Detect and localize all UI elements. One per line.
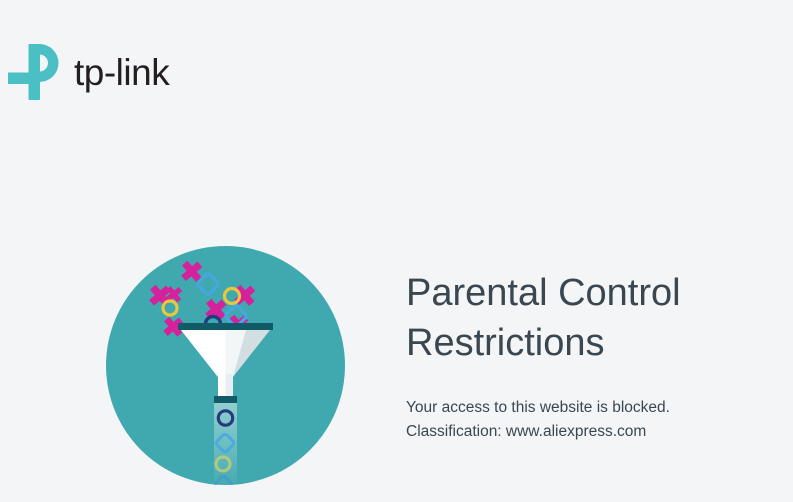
block-message-line-2: Classification: www.aliexpress.com (406, 420, 766, 444)
tp-link-logo-icon (8, 41, 70, 103)
page-title: Parental Control Restrictions (406, 268, 766, 368)
funnel-rim (178, 323, 273, 330)
block-message: Your access to this website is blocked. … (406, 368, 766, 444)
funnel-spout-band (214, 396, 237, 403)
message-panel: Parental Control Restrictions Your acces… (406, 268, 766, 444)
funnel-illustration (106, 246, 345, 485)
tp-link-wordmark: tp-link (74, 54, 169, 91)
tp-link-logo: tp-link (8, 40, 169, 104)
block-message-line-1: Your access to this website is blocked. (406, 396, 766, 420)
